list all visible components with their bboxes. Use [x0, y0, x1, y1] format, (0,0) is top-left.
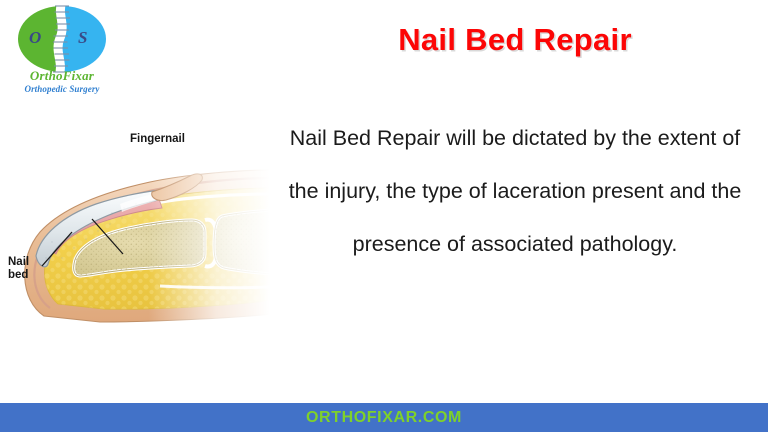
- logo-mark-icon: O S: [18, 6, 106, 72]
- logo-glyph-left: O: [29, 28, 41, 48]
- body-paragraph: Nail Bed Repair will be dictated by the …: [272, 112, 758, 271]
- footer-website: ORTHOFIXAR.COM: [306, 409, 462, 427]
- logo-subtitle: Orthopedic Surgery: [6, 84, 118, 94]
- label-fingernail: Fingernail: [130, 133, 185, 146]
- page-title: Nail Bed Repair: [270, 22, 760, 58]
- footer-bar: ORTHOFIXAR.COM: [0, 403, 768, 432]
- logo-glyph-right: S: [78, 28, 87, 48]
- logo-name: OrthoFixar: [6, 68, 118, 84]
- label-nail-bed: Nail bed: [8, 256, 29, 282]
- spine-icon: [48, 2, 76, 76]
- brand-logo: O S OrthoFixar Orthopedic Surgery: [6, 4, 118, 104]
